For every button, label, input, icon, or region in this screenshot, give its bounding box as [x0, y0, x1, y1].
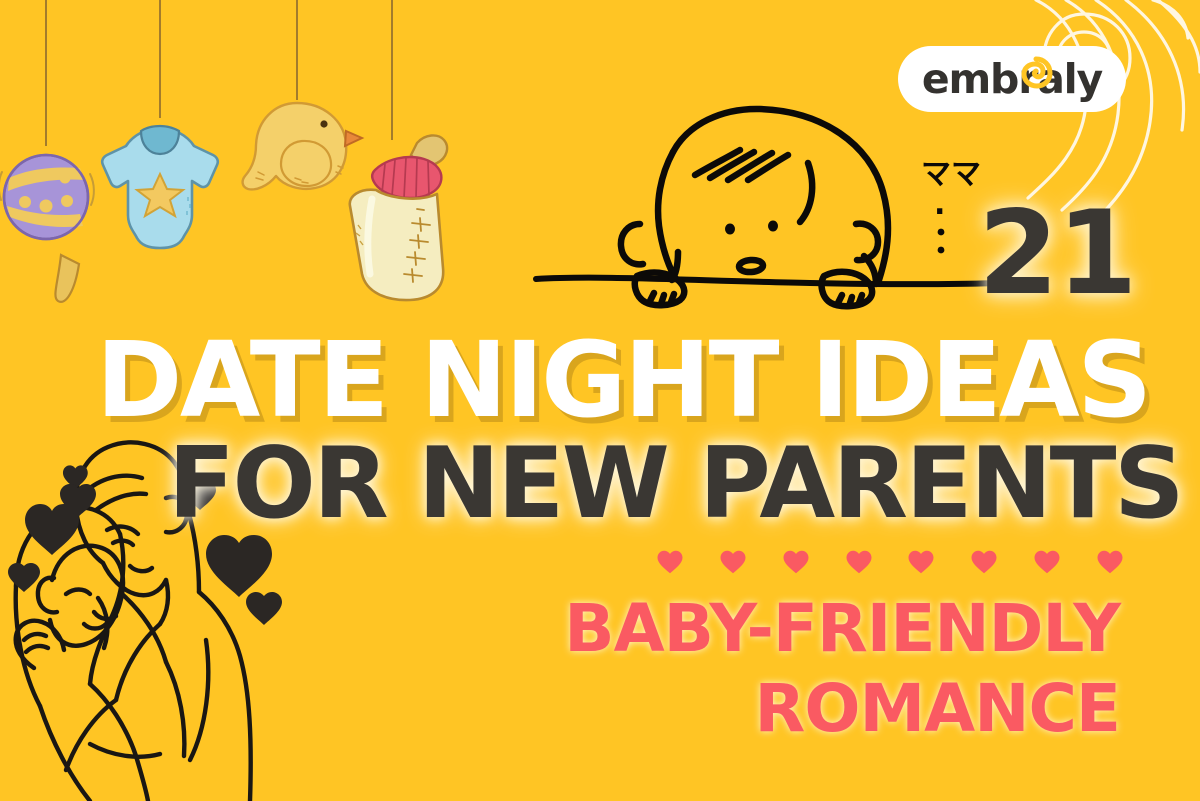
brand-logo[interactable]: embraly	[898, 46, 1126, 112]
heart-icon	[1032, 547, 1062, 577]
hearts-divider	[655, 542, 1125, 582]
heart-icon	[1095, 547, 1125, 577]
poster-canvas: ママ .	[0, 0, 1200, 801]
subtitle-line-2: ROMANCE	[755, 676, 1120, 742]
heart-icon	[969, 547, 999, 577]
heart-icon	[781, 547, 811, 577]
headline-line-1: DATE NIGHT IDEAS	[96, 328, 1150, 432]
heart-icon	[844, 547, 874, 577]
heart-icon	[655, 547, 685, 577]
heart-icon	[718, 547, 748, 577]
heart-icon	[906, 547, 936, 577]
headline-line-2: FOR NEW PARENTS	[168, 435, 1182, 533]
brand-logo-text: embraly	[922, 59, 1102, 100]
count-number: 21	[978, 196, 1135, 312]
subtitle-line-1: BABY-FRIENDLY	[564, 596, 1120, 662]
